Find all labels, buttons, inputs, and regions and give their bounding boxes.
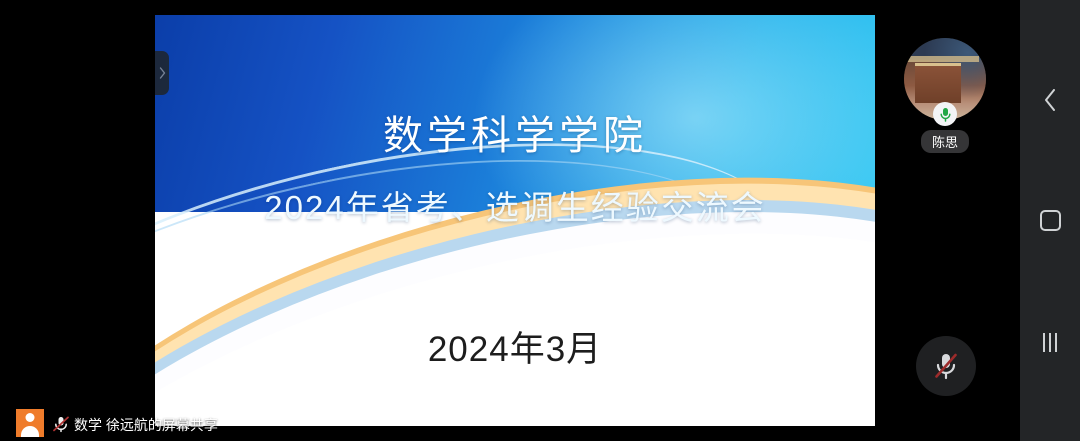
- slide-date: 2024年3月: [155, 321, 875, 372]
- avatar-body-shape: [21, 426, 39, 437]
- participant-name-label: 陈思: [921, 130, 969, 153]
- chevron-left-icon[interactable]: [1020, 78, 1080, 122]
- home-square-shape: [1040, 210, 1061, 231]
- microphone-muted-icon[interactable]: [916, 336, 976, 396]
- recents-bars-icon[interactable]: [1020, 320, 1080, 364]
- presentation-slide: 数学科学学院 2024年省考、选调生经验交流会 2024年3月: [155, 15, 875, 426]
- shared-screen-viewport[interactable]: 数学科学学院 2024年省考、选调生经验交流会 2024年3月: [155, 15, 875, 426]
- microphone-on-icon: [933, 102, 957, 126]
- screen-share-status-bar: 数学 徐远航的屏幕共享: [0, 407, 1020, 441]
- recents-bars-shape: [1043, 333, 1057, 352]
- participant-tile[interactable]: 陈思: [904, 38, 986, 120]
- android-navigation-bar: [1020, 0, 1080, 441]
- microphone-muted-icon: [52, 415, 70, 433]
- chevron-right-icon[interactable]: [155, 51, 169, 95]
- screen-share-label: 数学 徐远航的屏幕共享: [74, 415, 218, 435]
- slide-subtitle: 2024年省考、选调生经验交流会: [155, 181, 875, 229]
- avatar-head-shape: [26, 413, 35, 422]
- person-avatar-icon: [16, 409, 44, 437]
- meeting-screen: 数学科学学院 2024年省考、选调生经验交流会 2024年3月 陈思: [0, 0, 1080, 441]
- home-square-icon[interactable]: [1020, 198, 1080, 242]
- slide-title: 数学科学学院: [155, 103, 875, 161]
